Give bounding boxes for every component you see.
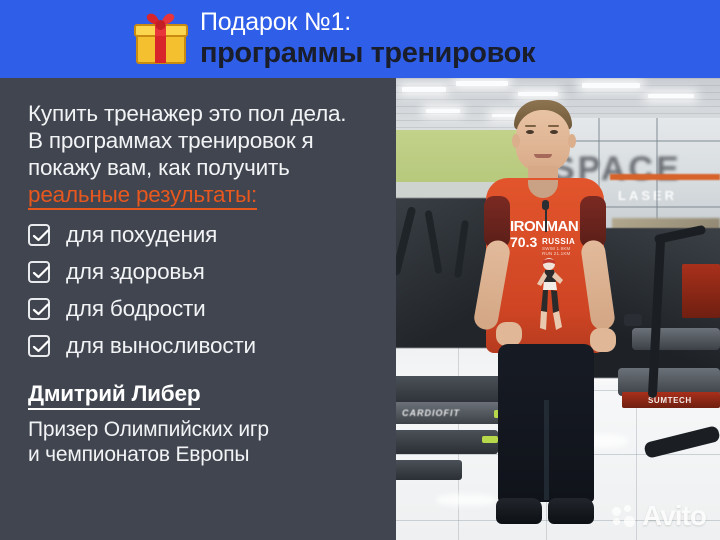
author-credential-line2: и чемпионатов Европы (28, 442, 380, 467)
list-item: для здоровья (28, 255, 380, 288)
checkbox-checked-icon (28, 298, 50, 320)
runner-figure-icon (532, 256, 566, 334)
checkbox-checked-icon (28, 335, 50, 357)
intro-line-2: В программах тренировок я (28, 127, 380, 154)
avito-dots-logo-icon (612, 505, 638, 527)
ceiling-lamp (402, 87, 446, 92)
intro-highlight: реальные результаты: (28, 183, 257, 210)
checkbox-checked-icon (28, 224, 50, 246)
header-banner: Подарок №1: программы тренировок (0, 0, 720, 78)
intro-line-3: покажу вам, как получить (28, 154, 380, 181)
list-item-label: для здоровья (66, 259, 205, 285)
list-item: для бодрости (28, 292, 380, 325)
mouth (534, 154, 552, 158)
print-region: RUSSIA (542, 237, 575, 246)
lavalier-microphone (542, 200, 549, 210)
list-item-label: для выносливости (66, 333, 256, 359)
avito-wordmark: Avito (642, 500, 706, 532)
eye (526, 130, 534, 134)
ear (568, 134, 576, 148)
avito-watermark: Avito (612, 500, 706, 532)
machine-panel (682, 264, 720, 318)
tshirt-print: IRONMAN 70.3 RUSSIA SWIM 1.9KM RUN 21.1K… (510, 212, 578, 340)
intro-line-1: Купить тренажер это пол дела. (28, 100, 380, 127)
advertisement-creative: Подарок №1: программы тренировок Купить … (0, 0, 720, 540)
header-text-block: Подарок №1: программы тренировок (200, 8, 705, 70)
eyebrow (525, 125, 536, 127)
treadmill-brand: CARDIOFIT (402, 408, 460, 418)
shoe (548, 498, 594, 524)
list-item: для выносливости (28, 329, 380, 362)
author-name: Дмитрий Либер (28, 381, 200, 410)
face (516, 110, 570, 172)
treadmill (396, 460, 462, 480)
ear (512, 134, 520, 148)
person-trainer: IRONMAN 70.3 RUSSIA SWIM 1.9KM RUN 21.1K… (468, 100, 648, 540)
leg-gap-shadow (544, 400, 549, 500)
signature-block: Дмитрий Либер Призер Олимпийских игр и ч… (28, 381, 380, 467)
trainer-photo: SPACE LASER (396, 78, 720, 540)
list-item: для похудения (28, 218, 380, 251)
ceiling-lamp (456, 81, 508, 86)
wristwatch (624, 314, 642, 326)
gift-box-icon (134, 13, 188, 65)
header-title-line1: Подарок №1: (200, 8, 705, 37)
list-item-label: для похудения (66, 222, 217, 248)
ceiling-lamp (648, 94, 694, 98)
benefits-checklist: для похудения для здоровья для бодрости … (28, 218, 380, 366)
header-title-line2: программы тренировок (200, 37, 705, 70)
intro-paragraph: Купить тренажер это пол дела. В программ… (28, 100, 380, 210)
ceiling-lamp (582, 83, 640, 88)
ceiling-lamp (426, 109, 460, 113)
hand (590, 328, 616, 352)
eye (550, 130, 558, 134)
microphone-cord (545, 210, 547, 232)
ceiling-lamp (518, 92, 558, 96)
checkbox-checked-icon (28, 261, 50, 283)
print-distance: 70.3 (510, 234, 537, 250)
author-credential-line1: Призер Олимпийских игр (28, 417, 380, 442)
print-tagline: SWIM 1.9KM RUN 21.1KM (542, 246, 578, 256)
list-item-label: для бодрости (66, 296, 205, 322)
shoe (496, 498, 542, 524)
eyebrow (548, 125, 559, 127)
text-panel: Купить тренажер это пол дела. В программ… (0, 78, 396, 540)
